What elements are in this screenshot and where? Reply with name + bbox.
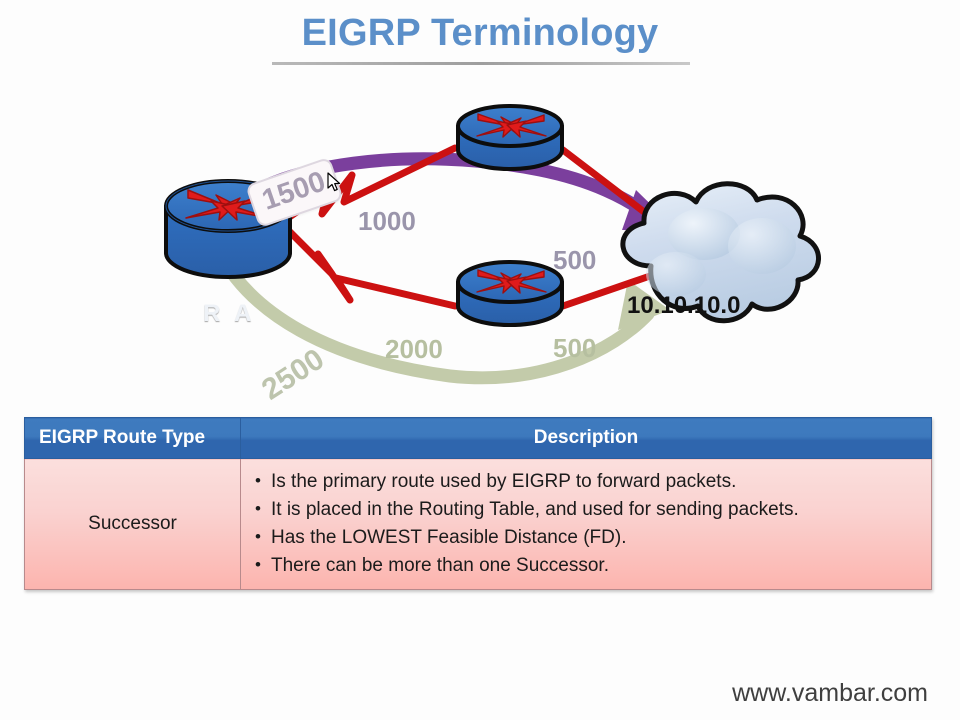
router-bottom-icon	[458, 262, 562, 325]
table-row: Successor Is the primary route used by E…	[25, 459, 932, 590]
column-header-route-type: EIGRP Route Type	[25, 418, 241, 459]
topology-svg	[0, 78, 960, 388]
cost-label-bottom-to-cloud: 500	[553, 333, 596, 364]
title-underline-divider	[272, 62, 690, 65]
list-item: It is placed in the Routing Table, and u…	[255, 496, 931, 524]
list-item: There can be more than one Successor.	[255, 552, 931, 580]
description-bullet-list: Is the primary route used by EIGRP to fo…	[255, 468, 931, 580]
network-topology-diagram: R A 10.10.10.0 1000 500 2000 500 1500 25…	[0, 78, 960, 388]
mouse-cursor-icon	[327, 172, 343, 194]
cost-label-ra-to-bottom: 2000	[385, 334, 443, 365]
link-ra-to-bottom	[288, 230, 455, 306]
column-header-description: Description	[241, 418, 932, 459]
title-area: EIGRP Terminology	[0, 8, 960, 58]
page-title: EIGRP Terminology	[0, 8, 960, 58]
table-header: EIGRP Route Type Description	[25, 418, 932, 459]
list-item: Is the primary route used by EIGRP to fo…	[255, 468, 931, 496]
router-top-icon	[458, 106, 562, 169]
table-body: Successor Is the primary route used by E…	[25, 459, 932, 590]
eigrp-route-type-table: EIGRP Route Type Description Successor I…	[24, 417, 932, 590]
cell-description: Is the primary route used by EIGRP to fo…	[241, 459, 932, 590]
cell-route-type: Successor	[25, 459, 241, 590]
cloud-network-label: 10.10.10.0	[627, 292, 740, 320]
router-a-label: R A	[203, 300, 255, 328]
cost-label-top-to-cloud: 500	[553, 245, 596, 276]
list-item: Has the LOWEST Feasible Distance (FD).	[255, 524, 931, 552]
footer-website-url: www.vambar.com	[732, 679, 928, 708]
cost-label-ra-to-top: 1000	[358, 206, 416, 237]
table-header-row: EIGRP Route Type Description	[25, 418, 932, 459]
